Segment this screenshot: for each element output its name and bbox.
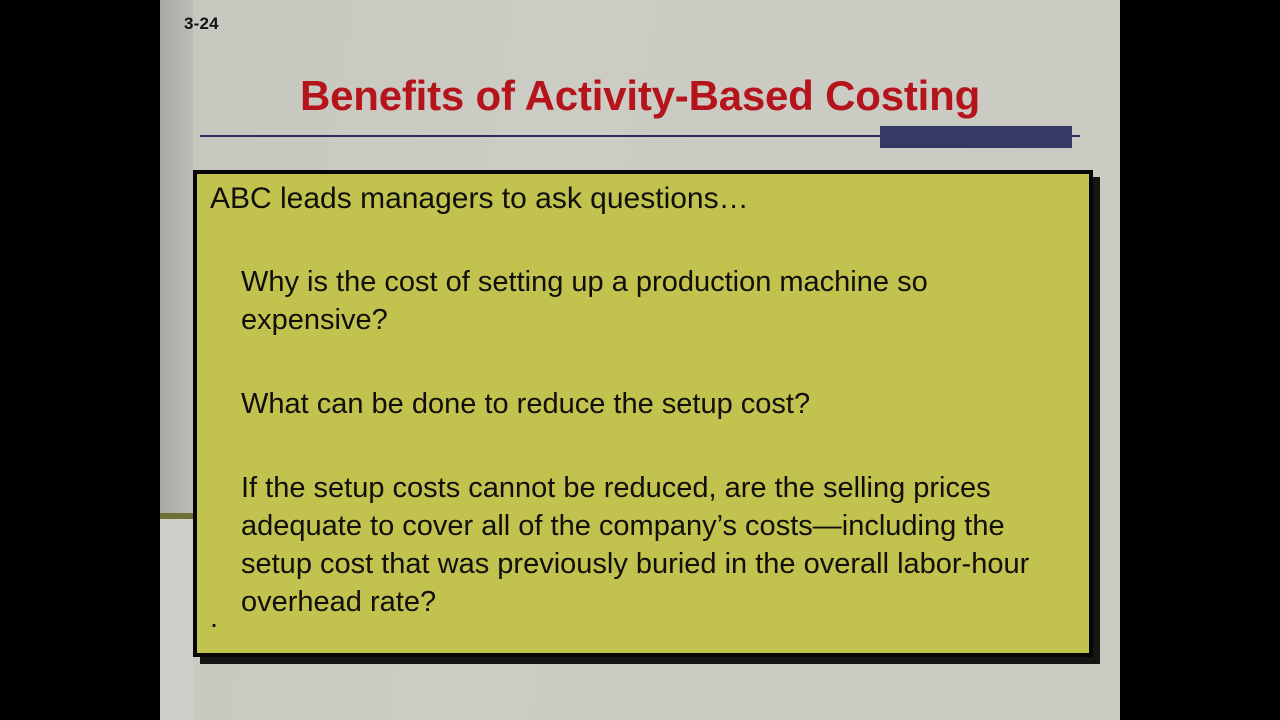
presentation-slide: 3-24 Benefits of Activity-Based Costing … <box>160 0 1120 720</box>
letterbox-bar-right <box>1120 0 1280 720</box>
content-card-trailing-mark: . <box>210 604 218 633</box>
slide-number: 3-24 <box>184 14 219 34</box>
slide-left-accent-band <box>160 0 193 518</box>
page-title: Benefits of Activity-Based Costing <box>200 72 1080 120</box>
title-divider-accent-block <box>880 126 1072 148</box>
content-card-heading: ABC leads managers to ask questions… <box>210 182 749 216</box>
question-item-3: If the setup costs cannot be reduced, ar… <box>241 469 1081 621</box>
content-card: ABC leads managers to ask questions… Why… <box>193 170 1093 657</box>
slide-left-lower-panel <box>160 519 193 720</box>
question-item-2: What can be done to reduce the setup cos… <box>241 385 1081 423</box>
screen: 3-24 Benefits of Activity-Based Costing … <box>0 0 1280 720</box>
letterbox-bar-left <box>0 0 160 720</box>
question-item-1: Why is the cost of setting up a producti… <box>241 263 1081 339</box>
